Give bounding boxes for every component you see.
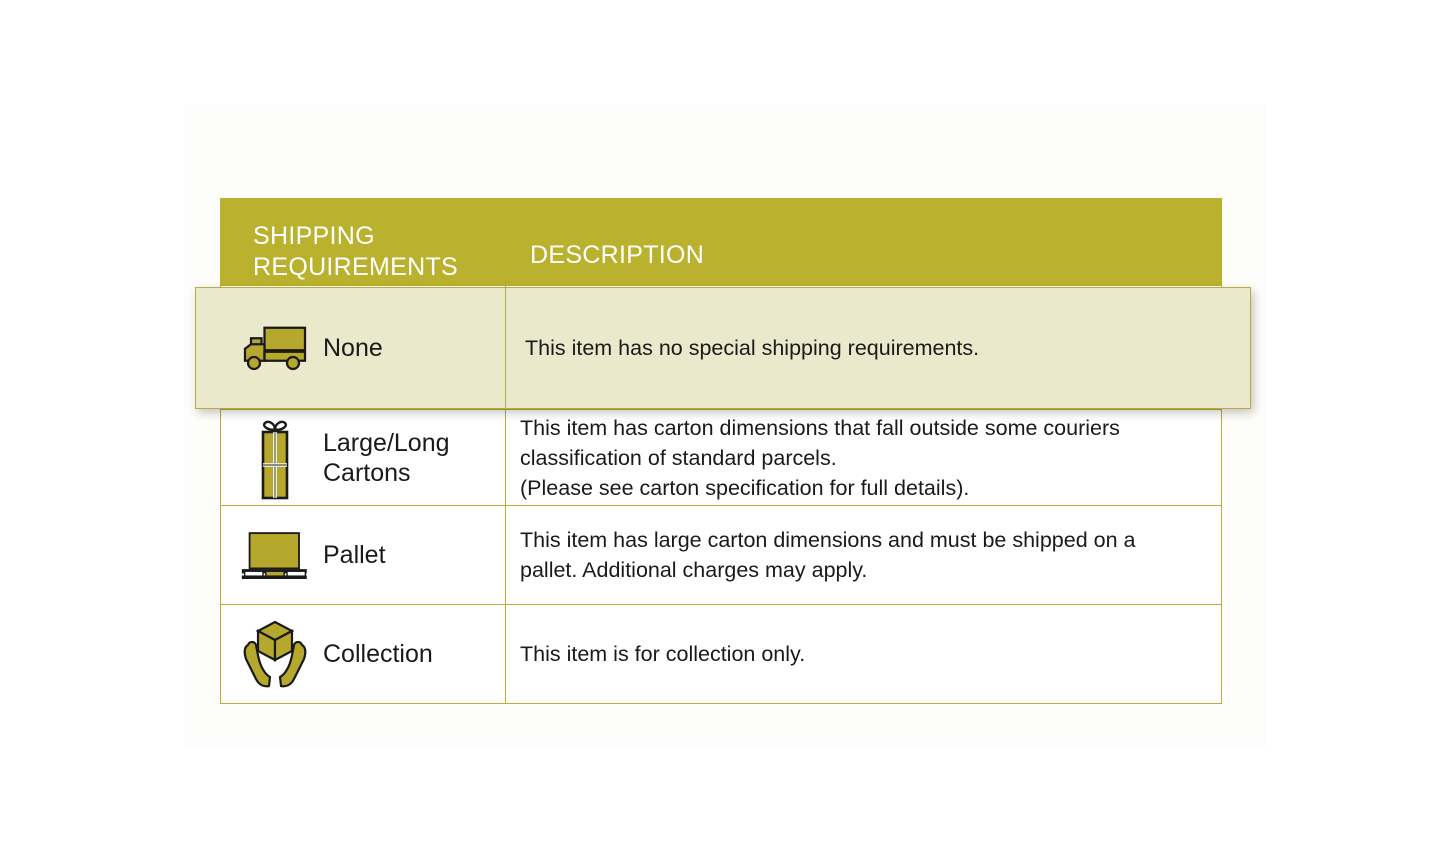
row-none-label: None <box>323 333 383 363</box>
row-none-description-cell-highlighted: This item has no special shipping requir… <box>506 288 1250 408</box>
row-large-description-line3: (Please see carton specification for ful… <box>520 473 1120 503</box>
row-pallet-description-line1: This item has large carton dimensions an… <box>520 525 1135 555</box>
row-large-label-cell: Large/Long Cartons <box>221 410 506 505</box>
row-pallet-label-cell: Pallet <box>221 506 506 604</box>
table-row-large-long-cartons[interactable]: Large/Long Cartons This item has carton … <box>221 410 1221 506</box>
table-row-collection[interactable]: Collection This item is for collection o… <box>221 605 1221 703</box>
row-none-description: This item has no special shipping requir… <box>525 333 979 363</box>
row-collection-description-cell: This item is for collection only. <box>506 605 1221 703</box>
row-pallet-description-line2: pallet. Additional charges may apply. <box>520 555 1135 585</box>
table-row-none-highlighted[interactable]: None This item has no special shipping r… <box>195 287 1251 409</box>
row-collection-description: This item is for collection only. <box>520 639 805 669</box>
table-header-band: SHIPPING REQUIREMENTS DESCRIPTION <box>220 198 1222 286</box>
delivery-truck-icon <box>239 317 311 379</box>
row-collection-label: Collection <box>323 639 433 669</box>
hands-holding-box-icon <box>239 617 311 691</box>
row-large-description-line2: classification of standard parcels. <box>520 443 1120 473</box>
row-pallet-label: Pallet <box>323 540 386 570</box>
row-large-label: Large/Long Cartons <box>323 428 505 488</box>
row-none-label-cell-highlighted: None <box>196 288 506 408</box>
table-row-pallet[interactable]: Pallet This item has large carton dimens… <box>221 506 1221 605</box>
column-header-shipping-requirements: SHIPPING REQUIREMENTS <box>253 221 483 283</box>
tall-gift-carton-icon <box>239 415 311 501</box>
column-header-description: DESCRIPTION <box>530 240 704 271</box>
row-pallet-description-cell: This item has large carton dimensions an… <box>506 506 1221 604</box>
row-collection-label-cell: Collection <box>221 605 506 703</box>
row-large-description-cell: This item has carton dimensions that fal… <box>506 410 1221 505</box>
row-large-description-line1: This item has carton dimensions that fal… <box>520 413 1120 443</box>
pallet-icon <box>239 520 311 590</box>
